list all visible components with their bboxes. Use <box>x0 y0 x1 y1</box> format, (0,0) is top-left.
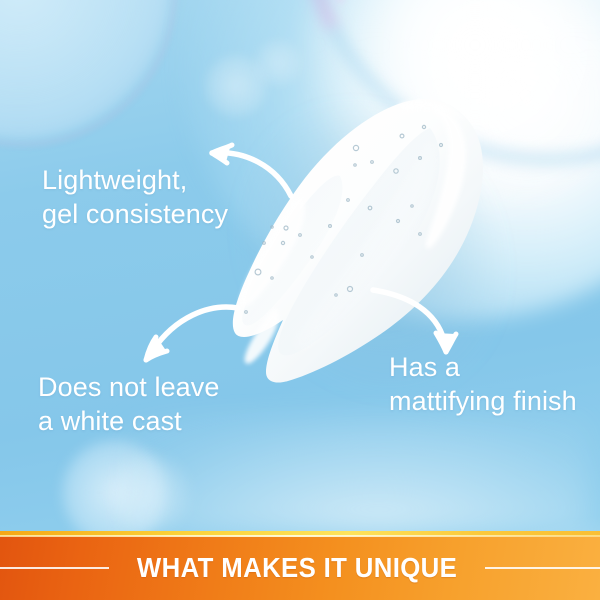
banner-title: WHAT MAKES IT UNIQUE <box>137 552 457 584</box>
callout-label-mattifying: Has a mattifying finish <box>389 350 577 419</box>
callout-label-white-cast: Does not leave a white cast <box>38 370 220 439</box>
banner-rule-right <box>485 567 600 569</box>
promo-graphic: Lightweight, gel consistency Does not le… <box>0 0 600 600</box>
banner-rule-left <box>0 567 109 569</box>
banner-content: WHAT MAKES IT UNIQUE <box>0 536 600 600</box>
callout-label-lightweight: Lightweight, gel consistency <box>42 163 228 232</box>
bottom-banner: WHAT MAKES IT UNIQUE <box>0 531 600 600</box>
